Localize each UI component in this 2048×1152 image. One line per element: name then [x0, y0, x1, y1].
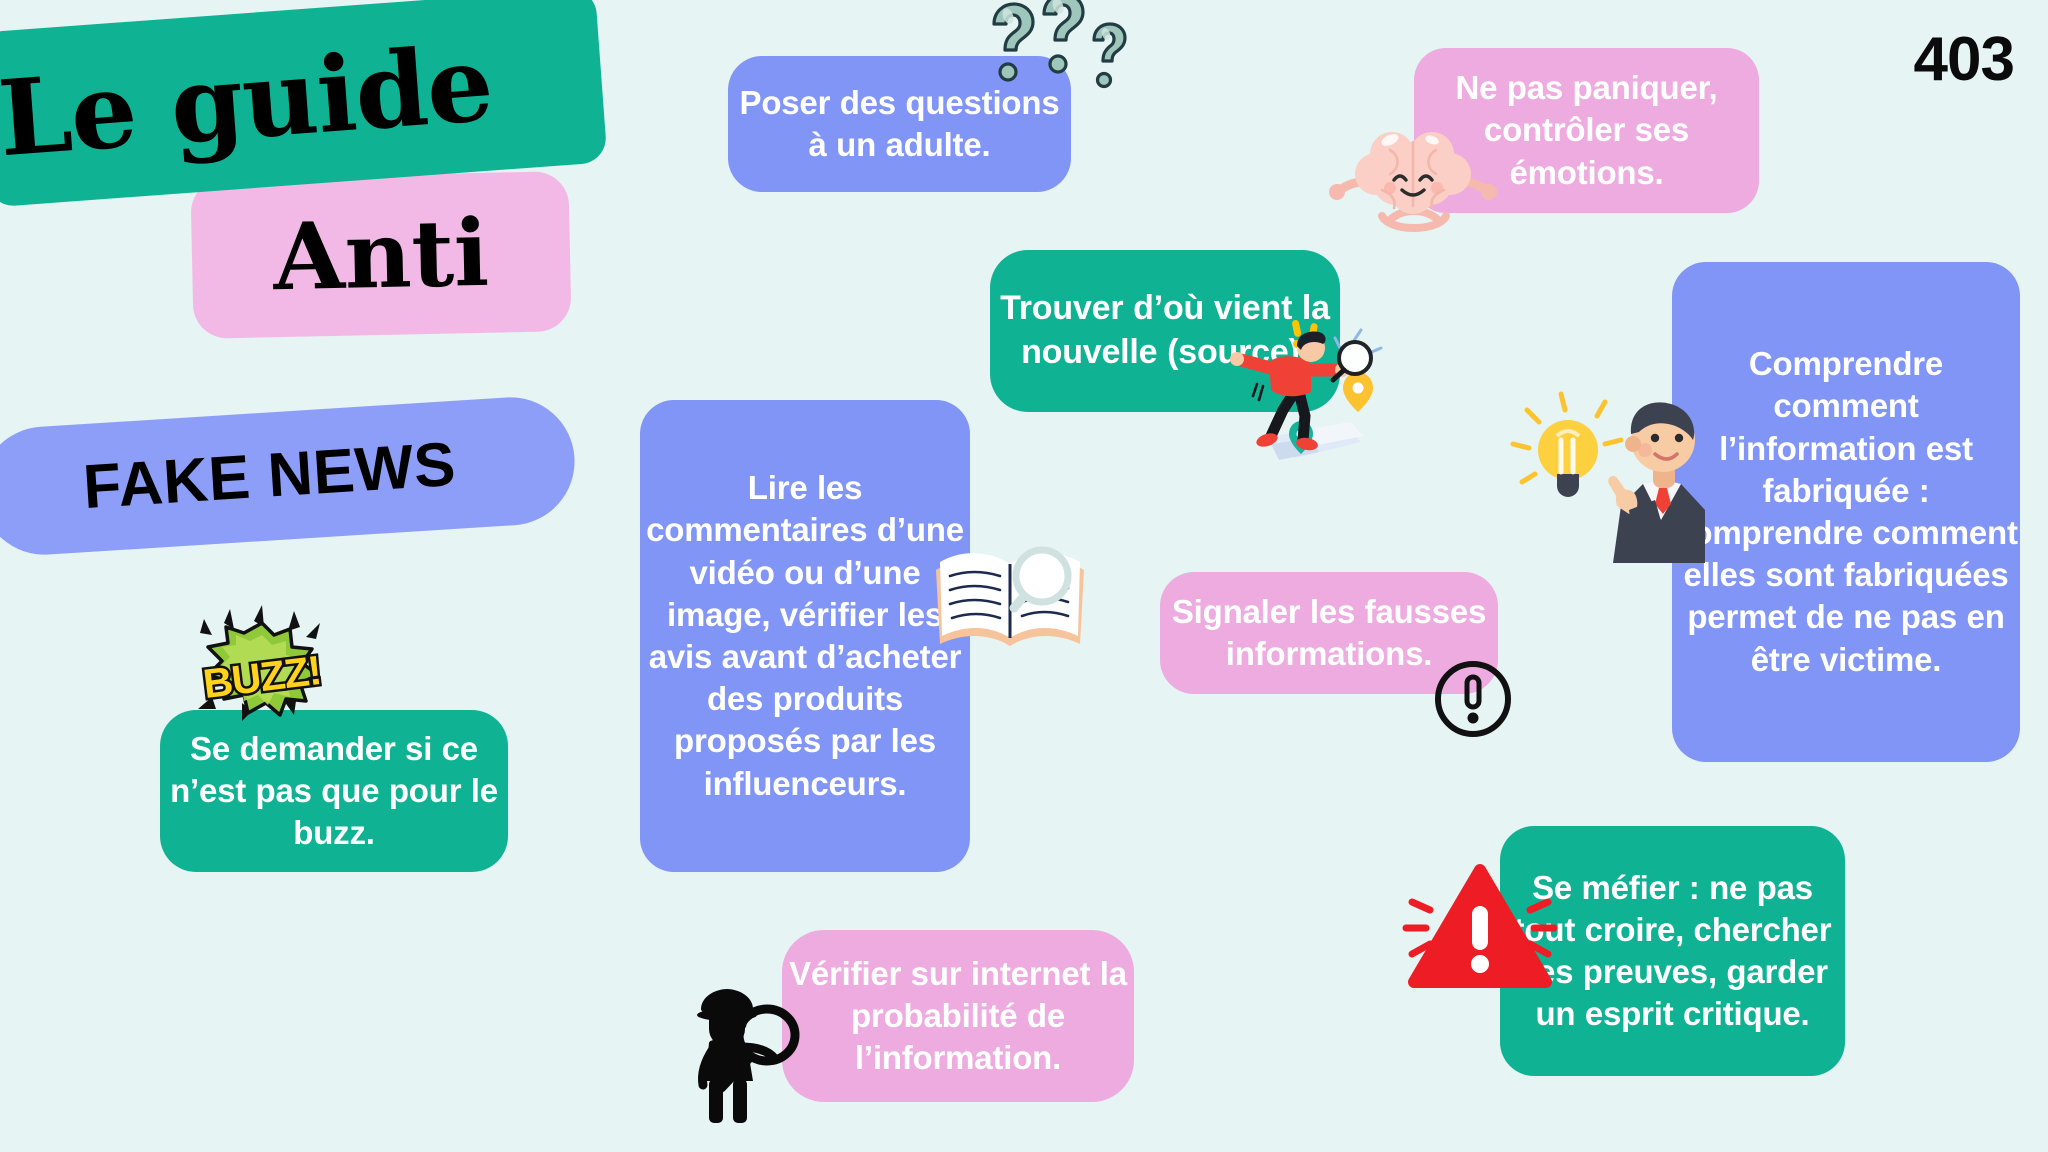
meditating-brain-icon [1320, 120, 1510, 235]
tip-card-se-demander-buzz-text: Se demander si ce n’est pas que pour le … [160, 728, 508, 855]
tip-card-verifier-sur-internet: Vérifier sur internet la probabilité de … [782, 930, 1134, 1102]
title-line-fakenews-text: FAKE NEWS [0, 426, 576, 525]
buzz-comic-sticker-icon: BUZZ! [182, 605, 342, 730]
tip-card-lire-les-commentaires-text: Lire les commentaires d’une vidéo ou d’u… [640, 467, 970, 805]
tip-card-se-demander-buzz: Se demander si ce n’est pas que pour le … [160, 710, 508, 872]
title-line-anti-text: Anti [191, 205, 571, 305]
title-line-guide-text: Le guide [0, 23, 605, 172]
open-book-with-magnifier-icon [930, 540, 1095, 670]
title-line-anti: Anti [190, 171, 571, 339]
tip-card-lire-les-commentaires: Lire les commentaires d’une vidéo ou d’u… [640, 400, 970, 872]
exclamation-circle-icon [1432, 658, 1514, 740]
tip-card-comprendre-fabrication: Comprendre comment l’information est fab… [1672, 262, 2020, 762]
red-warning-triangle-icon [1400, 858, 1560, 990]
question-marks-icon [972, 0, 1152, 98]
businessman-with-lightbulb-icon [1505, 388, 1705, 563]
tip-card-comprendre-fabrication-text: Comprendre comment l’information est fab… [1672, 343, 2020, 681]
tip-card-verifier-sur-internet-text: Vérifier sur internet la probabilité de … [782, 953, 1134, 1080]
detective-silhouette-icon [683, 985, 813, 1125]
person-with-magnifier-running-icon [1215, 318, 1385, 468]
page-number: 403 [1914, 24, 2014, 95]
title-line-fakenews: FAKE NEWS [0, 393, 578, 558]
infographic-poster: Le guide Anti FAKE NEWS 403 Poser des qu… [0, 0, 2048, 1152]
